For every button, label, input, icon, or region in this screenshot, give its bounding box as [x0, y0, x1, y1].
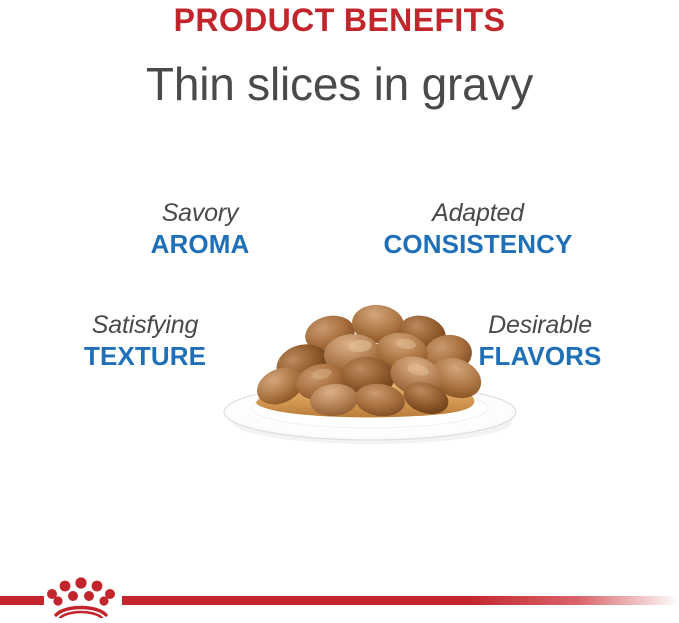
benefit-consistency: Adapted CONSISTENCY — [278, 198, 678, 260]
crown-icon — [45, 568, 117, 618]
page-title: PRODUCT BENEFITS — [0, 0, 679, 40]
benefit-consistency-label: CONSISTENCY — [278, 228, 678, 260]
footer-bar-segment-right — [122, 596, 679, 605]
footer-brand-bar — [0, 556, 679, 620]
product-food-image — [210, 272, 530, 452]
page-subtitle: Thin slices in gravy — [0, 56, 679, 112]
footer-bar-segment-left — [0, 596, 44, 605]
benefit-consistency-adjective: Adapted — [278, 198, 678, 228]
product-benefits-panel: PRODUCT BENEFITS Thin slices in gravy Sa… — [0, 0, 679, 620]
